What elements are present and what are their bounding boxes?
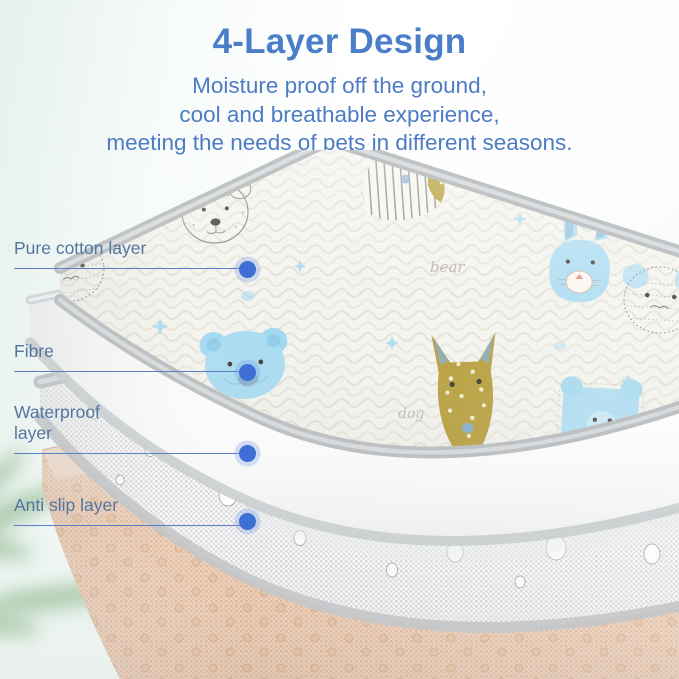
callout-dot-anti-slip[interactable] — [239, 513, 256, 530]
callout-fibre: Fibre — [14, 341, 54, 362]
callout-line-pure-cotton — [14, 268, 254, 269]
page-title: 4-Layer Design — [0, 22, 679, 62]
mat-layers-svg: bear dog — [0, 150, 679, 679]
infographic-canvas: 4-Layer Design Moisture proof off the gr… — [0, 0, 679, 679]
layered-mat-illustration: bear dog — [0, 150, 679, 679]
callout-line-fibre — [14, 371, 254, 372]
subtitle-line-1: Moisture proof off the ground, — [0, 72, 679, 101]
callout-dot-fibre[interactable] — [239, 364, 256, 381]
callout-dot-pure-cotton[interactable] — [239, 261, 256, 278]
callout-waterproof: Waterproof layer — [14, 402, 100, 444]
callout-anti-slip: Anti slip layer — [14, 495, 118, 516]
subtitle-line-2: cool and breathable experience, — [0, 101, 679, 130]
callout-line-waterproof — [14, 453, 254, 454]
callout-line-anti-slip — [14, 525, 254, 526]
callout-label-waterproof: Waterproof layer — [14, 402, 100, 444]
callout-label-anti-slip: Anti slip layer — [14, 495, 118, 516]
callout-pure-cotton: Pure cotton layer — [14, 238, 146, 259]
callout-label-pure-cotton: Pure cotton layer — [14, 238, 146, 259]
callout-dot-waterproof[interactable] — [239, 445, 256, 462]
callout-label-fibre: Fibre — [14, 341, 54, 362]
motif-stitch-lines — [552, 169, 582, 188]
page-subtitle: Moisture proof off the ground, cool and … — [0, 72, 679, 158]
